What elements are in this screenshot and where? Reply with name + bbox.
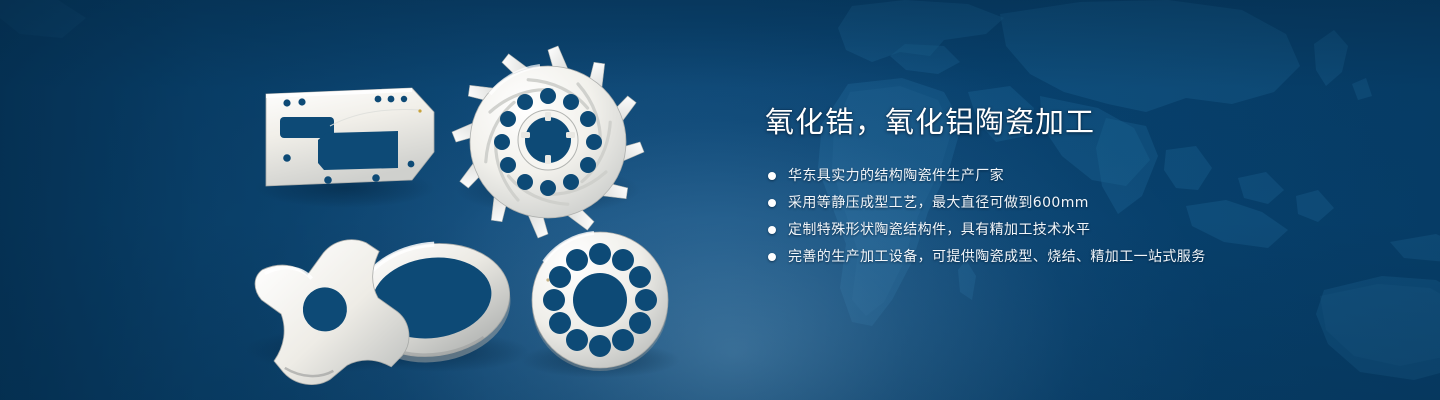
ceramic-mounting-plate [266, 88, 434, 186]
feature-list: 华东具实力的结构陶瓷件生产厂家 采用等静压成型工艺，最大直径可做到600mm 定… [765, 165, 1385, 267]
ceramic-perforated-disc [532, 232, 668, 371]
list-item: 完善的生产加工设备，可提供陶瓷成型、烧结、精加工一站式服务 [765, 246, 1385, 267]
bullet-dot-icon [768, 253, 776, 261]
ceramic-products-image [0, 0, 740, 400]
bullet-dot-icon [768, 199, 776, 207]
list-item: 定制特殊形状陶瓷结构件，具有精加工技术水平 [765, 219, 1385, 240]
banner-headline: 氧化锆，氧化铝陶瓷加工 [765, 108, 1385, 137]
feature-text: 定制特殊形状陶瓷结构件，具有精加工技术水平 [788, 223, 1090, 237]
bullet-dot-icon [768, 172, 776, 180]
banner-copy: 氧化锆，氧化铝陶瓷加工 华东具实力的结构陶瓷件生产厂家 采用等静压成型工艺，最大… [765, 108, 1385, 273]
promo-banner: 氧化锆，氧化铝陶瓷加工 华东具实力的结构陶瓷件生产厂家 采用等静压成型工艺，最大… [0, 0, 1440, 400]
list-item: 华东具实力的结构陶瓷件生产厂家 [765, 165, 1385, 186]
feature-text: 采用等静压成型工艺，最大直径可做到600mm [788, 196, 1089, 210]
bullet-dot-icon [768, 226, 776, 234]
list-item: 采用等静压成型工艺，最大直径可做到600mm [765, 192, 1385, 213]
ceramic-impeller-disc [452, 46, 644, 238]
feature-text: 完善的生产加工设备，可提供陶瓷成型、烧结、精加工一站式服务 [788, 250, 1206, 264]
feature-text: 华东具实力的结构陶瓷件生产厂家 [788, 169, 1004, 183]
